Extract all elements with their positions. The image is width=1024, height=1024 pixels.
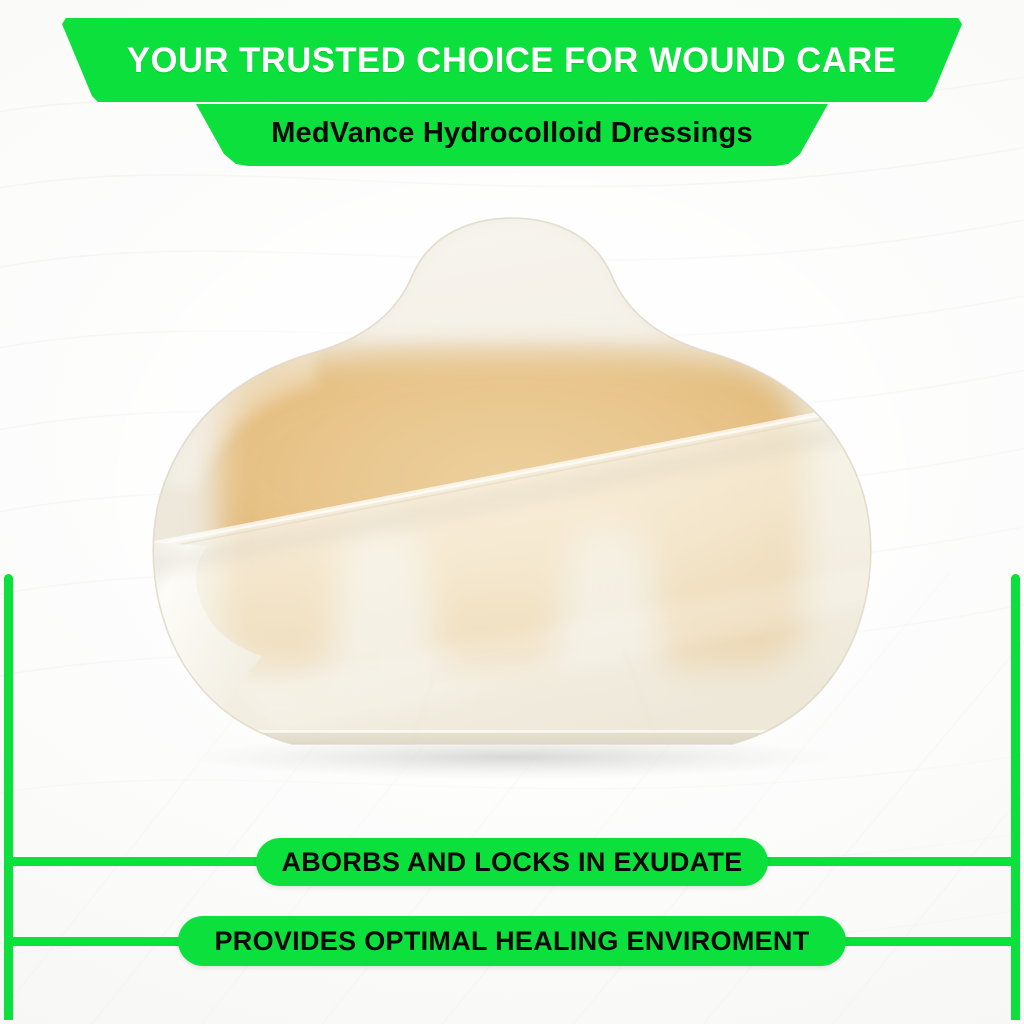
benefit-pill-absorbs: ABORBS AND LOCKS IN EXUDATE (256, 838, 768, 886)
benefit-pill-healing: PROVIDES OPTIMAL HEALING ENVIROMENT (178, 916, 846, 966)
headline-banner: YOUR TRUSTED CHOICE FOR WOUND CARE (62, 18, 962, 102)
product-image (112, 216, 912, 786)
headline-text: YOUR TRUSTED CHOICE FOR WOUND CARE (127, 43, 897, 78)
dressing-body (112, 216, 912, 786)
benefit-label-healing: PROVIDES OPTIMAL HEALING ENVIROMENT (214, 928, 809, 955)
product-name-text: MedVance Hydrocolloid Dressings (271, 119, 753, 148)
marketing-image-canvas: YOUR TRUSTED CHOICE FOR WOUND CARE MedVa… (0, 0, 1024, 1024)
benefit-label-absorbs: ABORBS AND LOCKS IN EXUDATE (281, 849, 742, 876)
product-name-banner: MedVance Hydrocolloid Dressings (196, 104, 828, 166)
